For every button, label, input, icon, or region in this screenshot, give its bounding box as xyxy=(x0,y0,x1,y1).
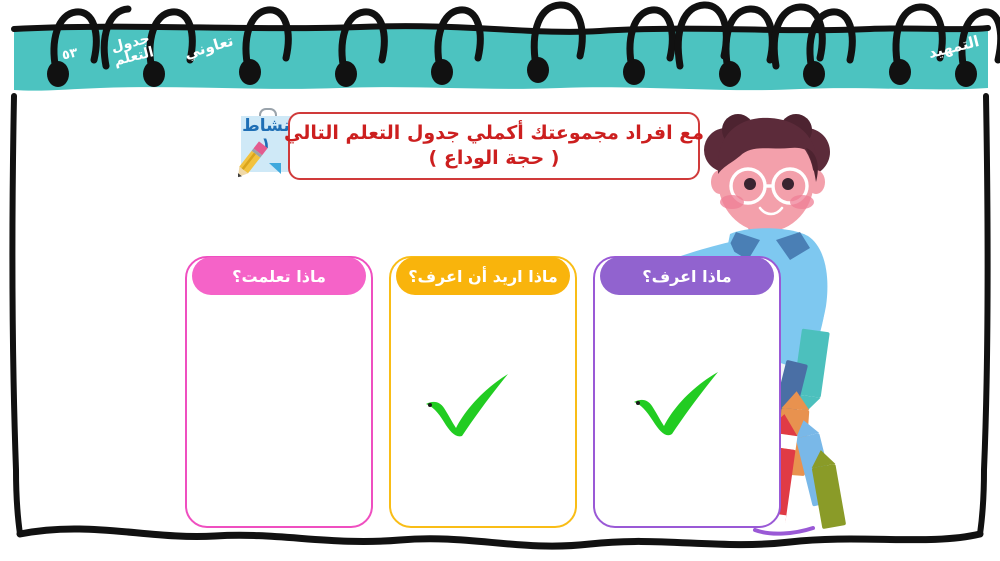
column-header-what-i-want-to-know: ماذا اريد أن اعرف؟ xyxy=(396,257,570,295)
column-what-i-learned[interactable]: ماذا تعلمت؟ xyxy=(185,256,373,528)
learning-table: ماذا تعلمت؟ ماذا اريد أن اعرف؟ ماذا اعرف… xyxy=(0,0,1000,561)
column-header-what-i-know: ماذا اعرف؟ xyxy=(600,257,774,295)
check-mark-icon xyxy=(628,368,724,438)
check-mark-icon xyxy=(420,368,516,438)
column-header-what-i-learned: ماذا تعلمت؟ xyxy=(192,257,366,295)
slide-root: ٥٣ جدول التعلم تعاوني التمهيد نشاط ١ مع … xyxy=(0,0,1000,561)
